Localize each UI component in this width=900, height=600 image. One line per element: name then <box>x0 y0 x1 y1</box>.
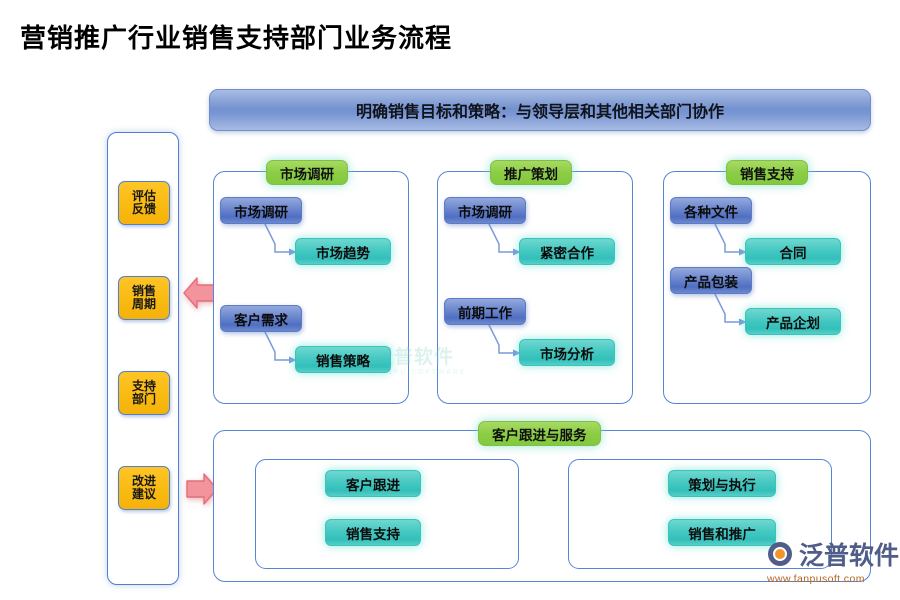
node-label: 市场趋势 <box>316 242 370 262</box>
node-label: 合同 <box>780 242 807 262</box>
node-label: 产品包装 <box>684 271 738 291</box>
goal-strategy-banner-label: 明确销售目标和策略：与领导层和其他相关部门协作 <box>356 98 724 122</box>
node-market-research-promo[interactable]: 市场调研 <box>444 197 526 224</box>
node-market-analysis[interactable]: 市场分析 <box>519 339 615 366</box>
node-label: 产品企划 <box>766 312 820 332</box>
node-label: 销售和推广 <box>688 523 756 543</box>
node-label: 前期工作 <box>458 302 512 322</box>
panel-header-customer-followup[interactable]: 客户跟进与服务 <box>478 421 601 446</box>
node-label: 各种文件 <box>684 201 738 221</box>
flowchart-page: 营销推广行业销售支持部门业务流程 泛普软件 FANPU SOFTWARE 明确销… <box>0 0 900 600</box>
node-various-documents[interactable]: 各种文件 <box>670 197 752 224</box>
node-label: 紧密合作 <box>540 242 594 262</box>
arrow-left-icon <box>182 272 216 314</box>
panel-header-label: 市场调研 <box>280 163 334 183</box>
node-label: 销售策略 <box>316 350 370 370</box>
node-market-trend[interactable]: 市场趋势 <box>295 238 391 265</box>
node-label: 市场调研 <box>234 201 288 221</box>
brand-logo-icon <box>765 540 795 568</box>
node-contract[interactable]: 合同 <box>745 238 841 265</box>
node-market-research-source[interactable]: 市场调研 <box>220 197 302 224</box>
node-preliminary-work[interactable]: 前期工作 <box>444 298 526 325</box>
page-title: 营销推广行业销售支持部门业务流程 <box>20 18 452 55</box>
brand-logo-label: 泛普软件 <box>799 536 899 572</box>
panel-header-promotion-planning[interactable]: 推广策划 <box>490 160 572 185</box>
node-label: 客户跟进 <box>346 474 400 494</box>
node-planning-execution[interactable]: 策划与执行 <box>668 470 776 497</box>
node-customer-demand[interactable]: 客户需求 <box>220 305 302 332</box>
panel-header-label: 客户跟进与服务 <box>492 424 587 444</box>
node-product-planning[interactable]: 产品企划 <box>745 308 841 335</box>
brand-logo-url: www.fanpusoft.com <box>767 573 899 585</box>
sidebar-item-label: 反馈 <box>132 203 156 216</box>
node-label: 策划与执行 <box>688 474 756 494</box>
panel-header-label: 推广策划 <box>504 163 558 183</box>
node-sales-promotion[interactable]: 销售和推广 <box>668 519 776 546</box>
node-label: 市场分析 <box>540 343 594 363</box>
node-sales-support-bottom[interactable]: 销售支持 <box>325 519 421 546</box>
sidebar-item-label: 建议 <box>132 488 156 501</box>
node-sales-strategy[interactable]: 销售策略 <box>295 346 391 373</box>
sidebar-item-evaluation-feedback[interactable]: 评估 反馈 <box>118 181 170 225</box>
node-label: 客户需求 <box>234 309 288 329</box>
panel-header-label: 销售支持 <box>740 163 794 183</box>
node-customer-followup[interactable]: 客户跟进 <box>325 470 421 497</box>
node-close-cooperation[interactable]: 紧密合作 <box>519 238 615 265</box>
panel-header-sales-support[interactable]: 销售支持 <box>726 160 808 185</box>
node-label: 市场调研 <box>458 201 512 221</box>
goal-strategy-banner[interactable]: 明确销售目标和策略：与领导层和其他相关部门协作 <box>209 89 871 131</box>
sidebar-item-support-department[interactable]: 支持 部门 <box>118 371 170 415</box>
node-product-packaging[interactable]: 产品包装 <box>670 267 752 294</box>
panel-header-market-research[interactable]: 市场调研 <box>266 160 348 185</box>
sidebar-item-sales-cycle[interactable]: 销售 周期 <box>118 276 170 320</box>
sidebar-item-label: 部门 <box>132 393 156 406</box>
brand-logo: 泛普软件 www.fanpusoft.com <box>765 536 899 585</box>
sidebar-panel: 评估 反馈 销售 周期 支持 部门 改进 建议 <box>107 132 179 585</box>
node-label: 销售支持 <box>346 523 400 543</box>
sidebar-item-improvement-suggestion[interactable]: 改进 建议 <box>118 466 170 510</box>
sidebar-item-label: 周期 <box>132 298 156 311</box>
